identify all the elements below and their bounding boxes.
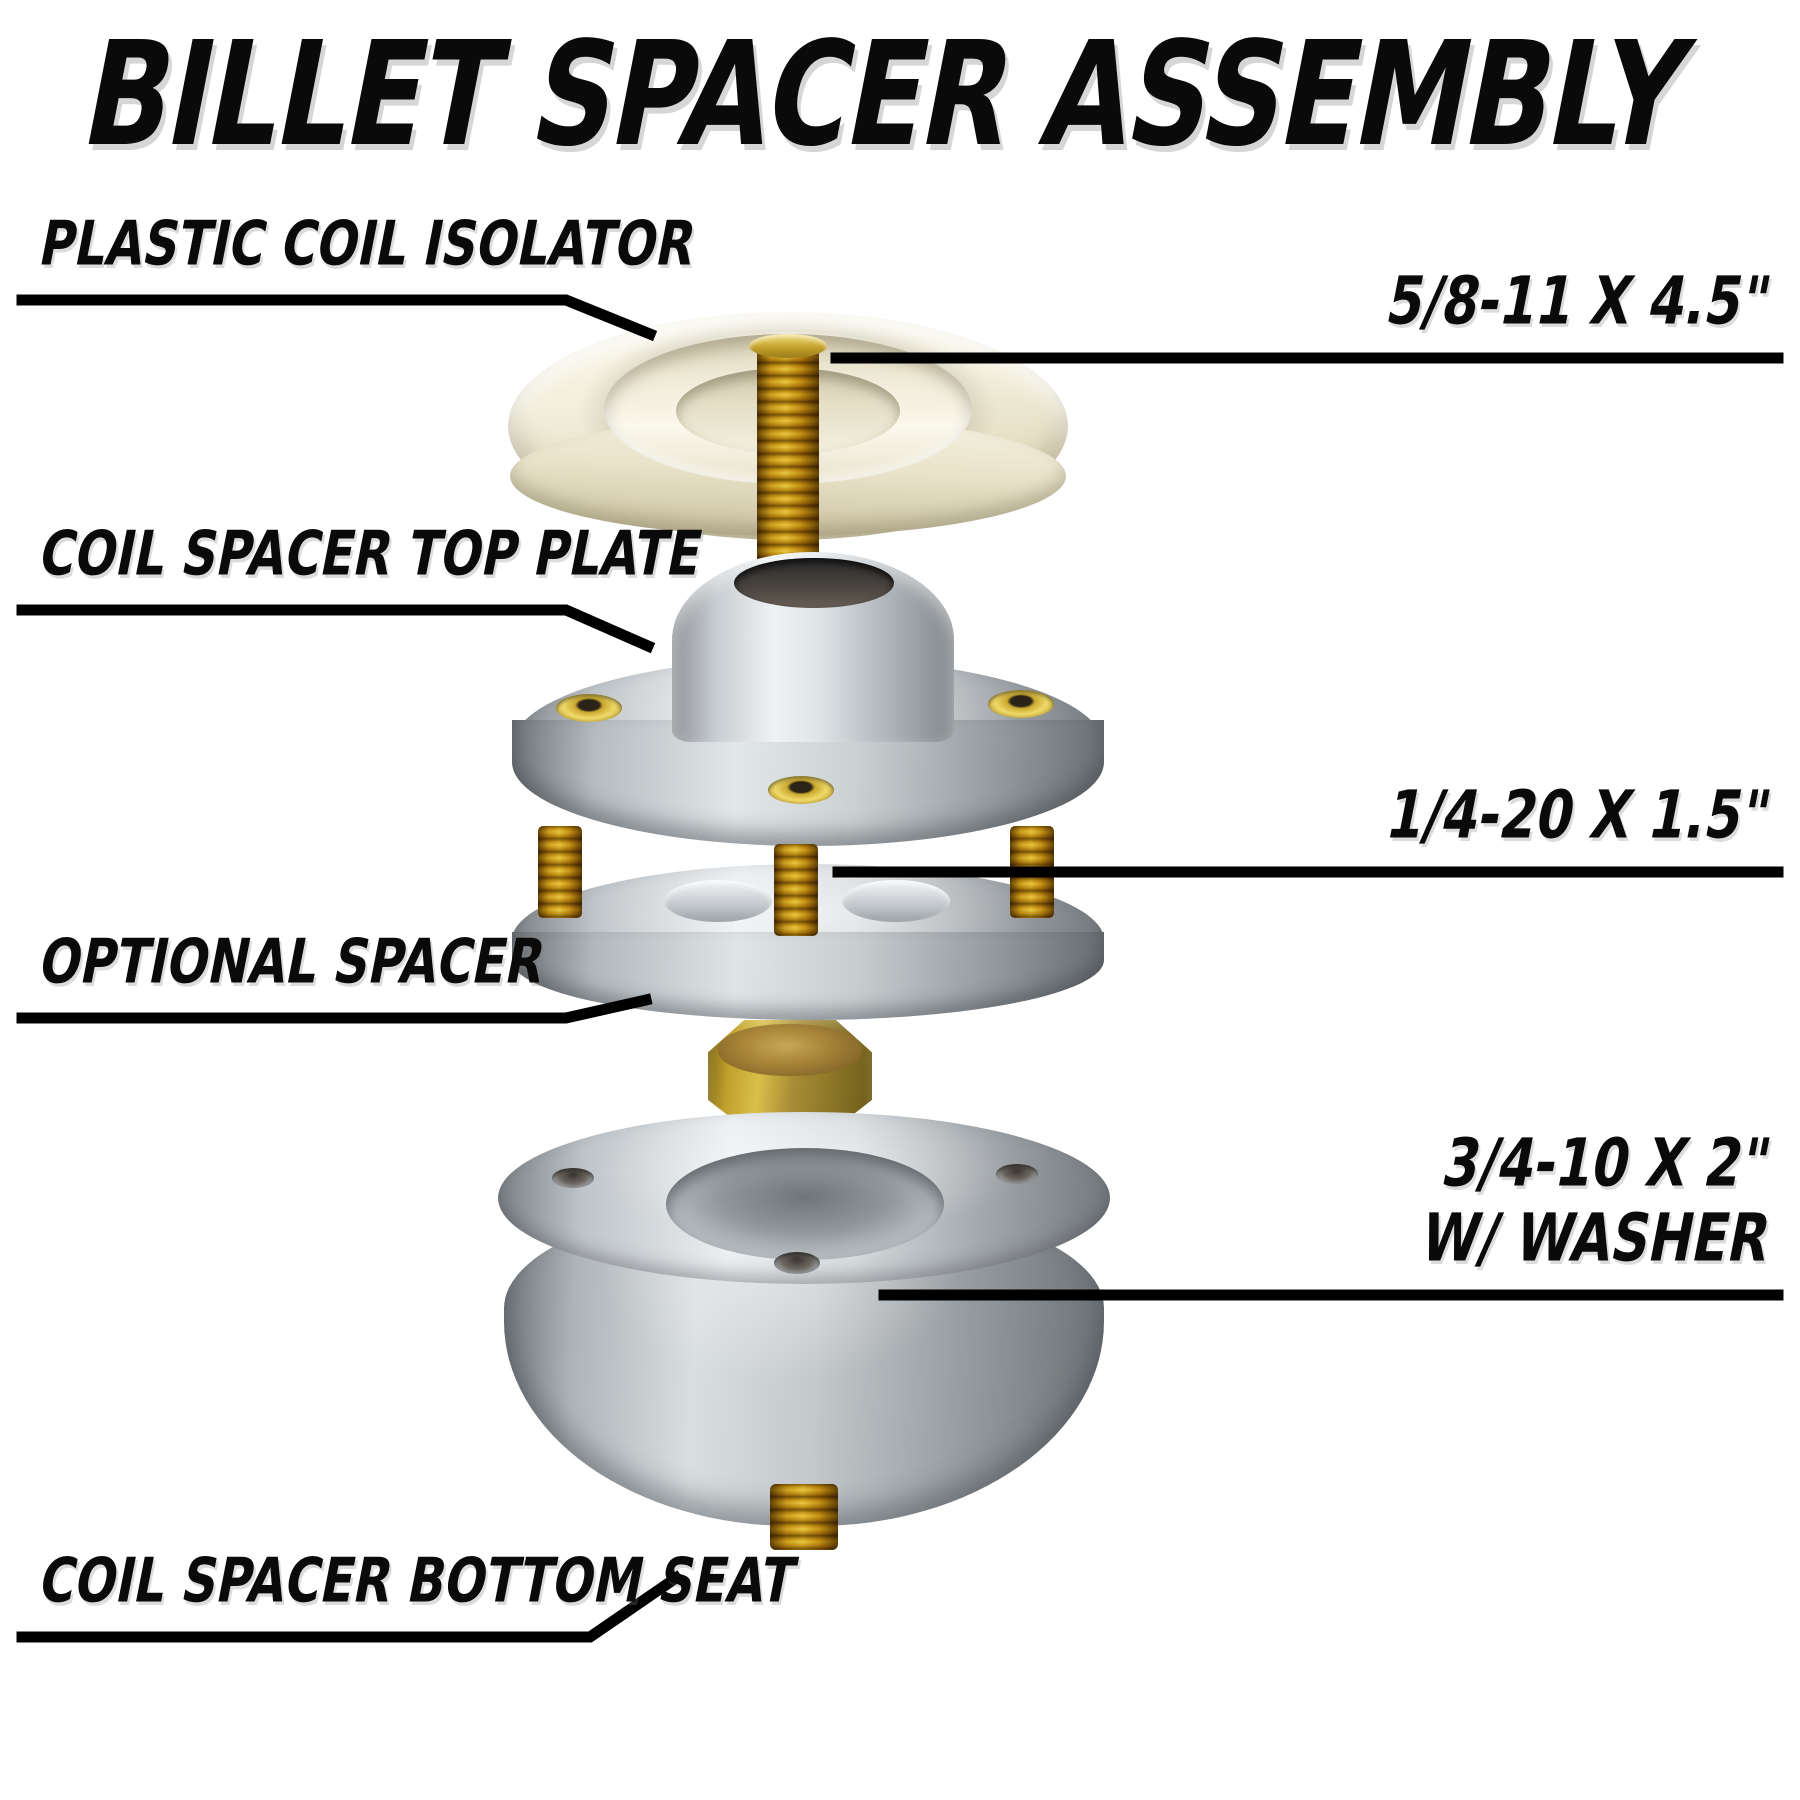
leader-coil-spacer-top-plate xyxy=(22,610,648,646)
leader-plastic-coil-isolator xyxy=(22,300,650,334)
label-coil-spacer-bottom-seat: COIL SPACER BOTTOM SEAT xyxy=(34,1546,802,1617)
label-coil-spacer-top-plate: COIL SPACER TOP PLATE xyxy=(34,519,708,590)
label-bolt-5-8-11: 5/8-11 X 4.5" xyxy=(1381,263,1777,340)
label-optional-spacer: OPTIONAL SPACER xyxy=(34,927,551,998)
label-screw-1-4-20: 1/4-20 X 1.5" xyxy=(1381,777,1777,854)
label-bolt-3-4-10-line2: W/ WASHER xyxy=(1415,1200,1777,1277)
label-plastic-coil-isolator: PLASTIC COIL ISOLATOR xyxy=(34,209,702,280)
leader-optional-spacer xyxy=(22,1000,646,1018)
label-bolt-3-4-10-line1: 3/4-10 X 2" xyxy=(1437,1125,1777,1202)
